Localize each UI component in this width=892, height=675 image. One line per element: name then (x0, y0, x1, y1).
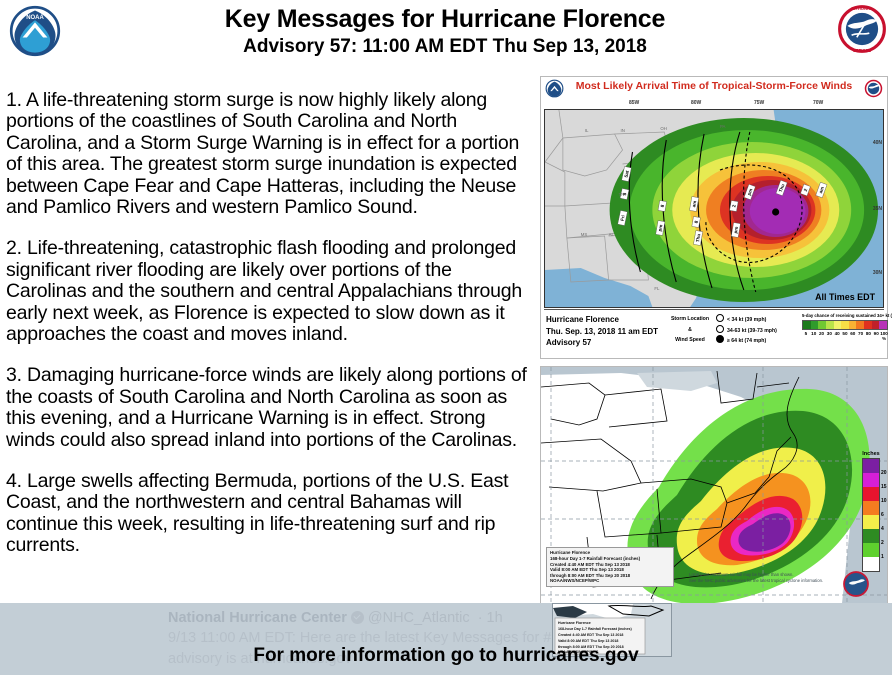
svg-text:SERVICE: SERVICE (853, 48, 871, 53)
colorbar-label-1: 1 (881, 554, 884, 560)
svg-text:IN: IN (621, 128, 625, 133)
key-message-2: 2. Life-threatening, catastrophic flash … (6, 238, 534, 346)
rainfall-note-line-2: See the NHC public advisories for the la… (689, 578, 849, 583)
symbol-caption-windspeed: Wind Speed (664, 335, 716, 346)
arrival-map-header: Most Likely Arrival Time of Tropical-Sto… (541, 77, 887, 100)
lon-label-85w: 85W (629, 100, 639, 106)
colorbar-label-6: 6 (881, 512, 884, 518)
lon-label-70w: 70W (813, 100, 823, 106)
arrival-map-title: Most Likely Arrival Time of Tropical-Sto… (541, 80, 887, 92)
colorbar-title: Inches (861, 451, 881, 457)
svg-text:MS: MS (581, 232, 588, 237)
open-circle-icon (716, 314, 724, 322)
tweet-handle[interactable]: @NHC_Atlantic (368, 610, 470, 626)
colorbar-label-10: 10 (881, 498, 887, 504)
svg-text:TN: TN (619, 192, 625, 197)
rainfall-colorbar: Inches 20 15 10 6 4 2 1 (861, 451, 881, 572)
svg-text:NOAA: NOAA (26, 15, 44, 21)
symbol-legend-caption: Storm Location & Wind Speed (664, 314, 716, 346)
lon-label-75w: 75W (754, 100, 764, 106)
svg-text:168-hour Day 1-7 Rainfall Fore: 168-hour Day 1-7 Rainfall Forecast (inch… (558, 627, 632, 631)
nws-logo: NATIONAL SERVICE (836, 3, 888, 55)
key-messages-graphic: NOAA Key Messages for Hurricane Florence… (0, 0, 892, 675)
legend-key-ts-low: < 34 kt (39 mph) (716, 314, 777, 325)
colorbar-label-4: 4 (881, 526, 884, 532)
key-messages-list: 1. A life-threatening storm surge is now… (6, 70, 534, 574)
symbol-caption-location: Storm Location (664, 314, 716, 325)
svg-text:Created 4:40 AM EDT Thu Sep 13: Created 4:40 AM EDT Thu Sep 13 2018 (558, 633, 623, 637)
colorbar-swatches: 20 15 10 6 4 2 1 (862, 458, 880, 572)
lon-label-80w: 80W (691, 100, 701, 106)
nws-logo-small-icon (864, 79, 883, 98)
tweet-timestamp: · 1h (478, 610, 503, 626)
page-subtitle: Advisory 57: 11:00 AM EDT Thu Sep 13, 20… (80, 35, 810, 59)
key-message-1: 1. A life-threatening storm surge is now… (6, 90, 534, 219)
probability-colorbar (802, 320, 888, 330)
svg-text:Hurricane Florence: Hurricane Florence (558, 621, 591, 625)
all-times-note: All Times EDT (815, 292, 875, 302)
svg-text:Valid 8:00 AM EDT Thu Sep 13 2: Valid 8:00 AM EDT Thu Sep 13 2018 (558, 639, 618, 643)
colorbar-label-15: 15 (881, 484, 887, 490)
svg-text:PA: PA (720, 124, 726, 129)
rainfall-caption-line-6: NOAA/NWS/NCEP/WPC (550, 578, 670, 584)
nws-seal-icon (843, 571, 869, 597)
colorbar-label-20: 20 (881, 470, 887, 476)
open-circle-storm-icon (716, 325, 724, 333)
legend-key-hurricane: ≥ 64 kt (74 mph) (716, 335, 777, 346)
svg-text:NATIONAL: NATIONAL (851, 6, 873, 11)
verified-badge-icon (351, 611, 364, 624)
probability-caption: 5-day chance of receiving sustained 34+ … (802, 313, 888, 318)
rainfall-note: Local point maximum rainfall may be high… (689, 572, 849, 583)
title-block: Key Messages for Hurricane Florence Advi… (80, 4, 810, 59)
probability-legend: 5-day chance of receiving sustained 34+ … (802, 313, 888, 341)
header: NOAA Key Messages for Hurricane Florence… (0, 0, 892, 62)
symbol-caption-amp: & (664, 325, 716, 336)
lat-label-30n: 30N (873, 270, 882, 276)
probability-ticks: 510 2030 4050 6070 8090 100 % (802, 331, 888, 341)
colorbar-label-2: 2 (881, 540, 884, 546)
storm-name: Hurricane Florence (546, 314, 658, 326)
svg-text:FL: FL (654, 286, 660, 291)
lat-label-40n: 40N (873, 140, 882, 146)
svg-text:IL: IL (585, 128, 589, 133)
arrival-map-legend: Hurricane Florence Thu. Sep. 13, 2018 11… (544, 309, 884, 360)
symbol-legend-keys: < 34 kt (39 mph) 34-63 kt (39-73 mph) ≥ … (716, 314, 777, 346)
noaa-logo: NOAA (8, 4, 62, 58)
arrival-time-map-panel: Most Likely Arrival Time of Tropical-Sto… (540, 76, 888, 359)
storm-advisory: Advisory 57 (546, 337, 658, 349)
footer-text: For more information go to hurricanes.go… (0, 645, 892, 667)
page-title: Key Messages for Hurricane Florence (80, 4, 810, 34)
arrival-time-map-image: Sat 8 Fri 8 pm am 8 Thu 2 pm pm Thu 2 am (544, 109, 884, 308)
storm-valid-time: Thu. Sep. 13, 2018 11 am EDT (546, 326, 658, 338)
key-message-3: 3. Damaging hurricane-force winds are li… (6, 365, 534, 451)
key-message-4: 4. Large swells affecting Bermuda, porti… (6, 471, 534, 557)
rainfall-forecast-map-panel: Inches 20 15 10 6 4 2 1 Hurricane Floren… (540, 366, 888, 614)
svg-text:AL: AL (609, 232, 615, 237)
longitude-tick-labels: 85W 80W 75W 70W (541, 100, 887, 109)
rainfall-caption-box: Hurricane Florence 168-hour Day 1-7 Rain… (546, 547, 674, 587)
lat-label-35n: 35N (873, 206, 882, 212)
storm-info-block: Hurricane Florence Thu. Sep. 13, 2018 11… (546, 314, 658, 349)
svg-text:OH: OH (660, 126, 667, 131)
tweet-account-name[interactable]: National Hurricane Center (168, 610, 347, 626)
filled-circle-hurricane-icon (716, 335, 724, 343)
legend-key-ts: 34-63 kt (39-73 mph) (716, 325, 777, 336)
